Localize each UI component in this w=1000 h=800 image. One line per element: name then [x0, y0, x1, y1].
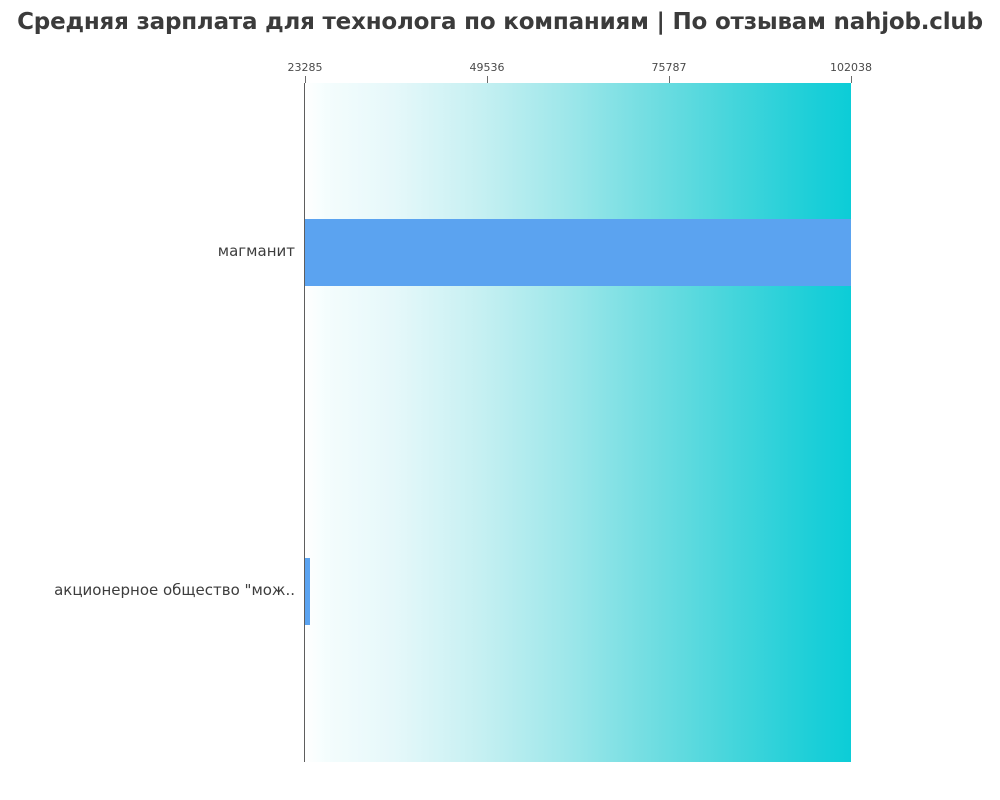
x-tick-label: 102038	[830, 61, 872, 74]
chart-title-container: Средняя зарплата для технолога по компан…	[0, 0, 1000, 46]
bar-akcionernoe-obshchestvo[interactable]	[305, 558, 310, 625]
x-tick-label: 49536	[470, 61, 505, 74]
y-axis-spine	[304, 83, 305, 762]
bar-magmanit[interactable]	[305, 219, 851, 286]
x-tick-mark	[851, 76, 852, 83]
x-tick-mark	[669, 76, 670, 83]
y-category-label-akcionernoe-obshchestvo: акционерное общество "мож..	[54, 581, 295, 599]
plot-area	[305, 83, 851, 762]
x-tick-mark	[305, 76, 306, 83]
chart-title: Средняя зарплата для технолога по компан…	[0, 0, 1000, 44]
y-category-label-magmanit: магманит	[218, 242, 295, 260]
x-tick-label: 75787	[652, 61, 687, 74]
x-tick-label: 23285	[288, 61, 323, 74]
x-tick-mark	[487, 76, 488, 83]
